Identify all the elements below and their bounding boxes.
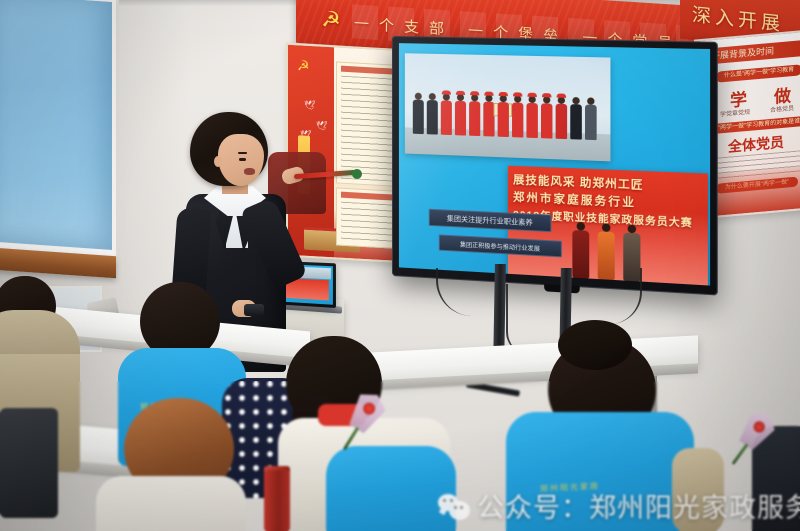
- poster-left-card-title-bar: [341, 66, 395, 75]
- pointer-stick-tip: [352, 169, 362, 179]
- slide-photo-person: [556, 97, 568, 140]
- audience-blue-vest: [326, 446, 456, 531]
- audience-white-coat: [96, 476, 246, 531]
- poster-right-sub-1: 学党章党规: [720, 107, 750, 119]
- audience-hair-bun: [558, 320, 632, 370]
- slide-photo-person: [427, 93, 438, 135]
- presenter-brow: [238, 152, 247, 154]
- dove-icon: 🕊: [304, 100, 315, 112]
- slide-photo-person: [570, 97, 582, 140]
- presenter-eye: [239, 158, 246, 161]
- dove-icon: 🕊: [316, 120, 327, 132]
- slide-photo-person: [455, 94, 466, 136]
- presentation-tv[interactable]: 展技能风采 助郑州工匠 郑州市家庭服务行业 2018年度职业技能家政服务员大赛 …: [392, 36, 718, 296]
- slide-photo-person: [441, 93, 452, 135]
- poster-right-header-text: 深入开展: [692, 0, 784, 37]
- slide-photo-person: [541, 96, 552, 138]
- slide-group-photo: [405, 53, 611, 161]
- poster-right-sub-2: 合格党员: [770, 103, 794, 114]
- presenter-clicker[interactable]: [244, 304, 264, 316]
- wechat-icon: [438, 493, 468, 519]
- poster-left-text-card-2: [336, 187, 400, 249]
- poster-left-card2-lines: [341, 202, 395, 244]
- tv-screen: 展技能风采 助郑州工匠 郑州市家庭服务行业 2018年度职业技能家政服务员大赛 …: [399, 43, 710, 285]
- poster-left-emblem-icon: ☭: [297, 57, 310, 75]
- slide-photo-person: [512, 95, 523, 137]
- slide-photo-person: [469, 94, 480, 136]
- window-blind: [0, 0, 112, 252]
- slide-photo-person: [526, 96, 537, 138]
- chair-back: [0, 408, 58, 518]
- slide-photo-person: [498, 95, 509, 137]
- thermos-bottle: [264, 470, 290, 531]
- slide-award-person: [572, 222, 589, 279]
- poster-left-text-card-1: [336, 61, 400, 187]
- watermark-text: 公众号：郑州阳光家政服务公司: [477, 486, 800, 525]
- slide-photo-person: [585, 97, 597, 140]
- slide-photo-person: [413, 93, 424, 135]
- poster-left-card-lines: [341, 76, 395, 182]
- poster-right-pill-1: 什么是"两学一做"学习教育: [716, 64, 800, 83]
- poster-right-section-title: 开展背景及时间: [704, 39, 800, 65]
- hammer-sickle-icon: ☭: [318, 6, 344, 34]
- presenter-ear: [214, 156, 222, 167]
- poster-left-card2-title-bar: [341, 192, 395, 201]
- photo-scene: ☭ 一个支部 一个堡垒 一个党员 一面旗帜 深入开展 ☭ 🕊 🕊 🕊 开展背景及…: [0, 0, 800, 531]
- audience-head: [140, 282, 220, 358]
- watermark: 公众号：郑州阳光家政服务公司: [438, 486, 800, 525]
- poster-right-section-header: 开展背景及时间: [704, 39, 800, 65]
- presenter-mouth: [244, 168, 255, 175]
- poster-right-pill-2: "两学一做"学习教育的对象是谁: [712, 116, 800, 134]
